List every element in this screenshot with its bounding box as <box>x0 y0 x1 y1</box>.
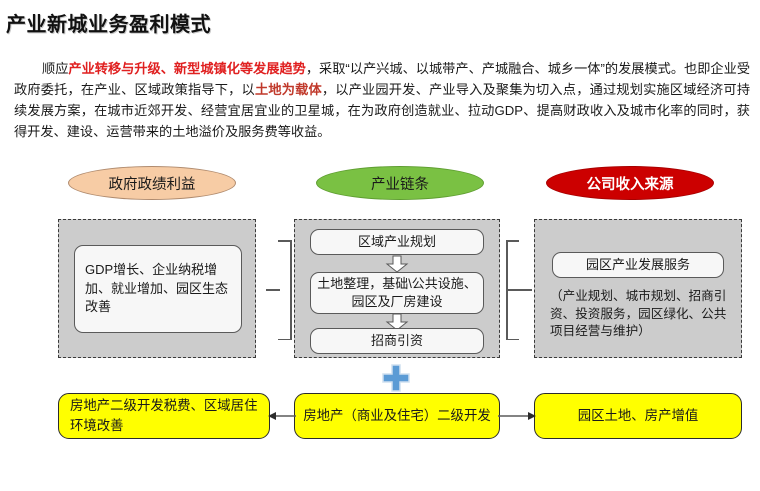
pill-industry-chain: 产业链条 <box>316 166 484 200</box>
right-arrow-icon <box>498 410 536 422</box>
box-regional-industry-planning: 区域产业规划 <box>310 229 484 255</box>
box-park-land-appreciation: 园区土地、房产增值 <box>534 393 742 439</box>
box-realestate-secondary-development: 房地产（商业及住宅）二级开发 <box>294 393 500 439</box>
left-arrow-icon <box>268 410 296 422</box>
box-land-consolidation-infrastructure: 土地整理，基础\公共设施、园区及厂房建设 <box>310 272 484 314</box>
paragraph-segment-1: 顺应 <box>42 61 68 76</box>
pill-government-interest: 政府政绩利益 <box>68 166 236 200</box>
page-title: 产业新城业务盈利模式 <box>6 8 211 37</box>
bracket-connector-right <box>502 240 532 340</box>
text-service-detail: （产业规划、城市规划、招商引资、投资服务，园区绿化、公共项目经营与维护） <box>550 288 730 341</box>
box-gdp-growth: GDP增长、企业纳税增加、就业增加、园区生态改善 <box>74 245 242 333</box>
paragraph-highlight-land: 土地为载体 <box>255 82 322 97</box>
paragraph-highlight-trends: 产业转移与升级、新型城镇化等发展趋势 <box>68 61 305 76</box>
box-realestate-tax-benefit: 房地产二级开发税费、区域居住环境改善 <box>58 393 270 439</box>
pill-company-revenue: 公司收入来源 <box>546 166 714 200</box>
plus-icon <box>381 363 411 393</box>
box-investment-attraction: 招商引资 <box>310 328 484 354</box>
box-park-industry-development-service: 园区产业发展服务 <box>552 252 724 278</box>
bracket-connector-left <box>266 240 292 340</box>
down-arrow-icon <box>386 256 408 273</box>
intro-paragraph: 顺应产业转移与升级、新型城镇化等发展趋势，采取“以产兴城、以城带产、产城融合、城… <box>14 58 750 142</box>
